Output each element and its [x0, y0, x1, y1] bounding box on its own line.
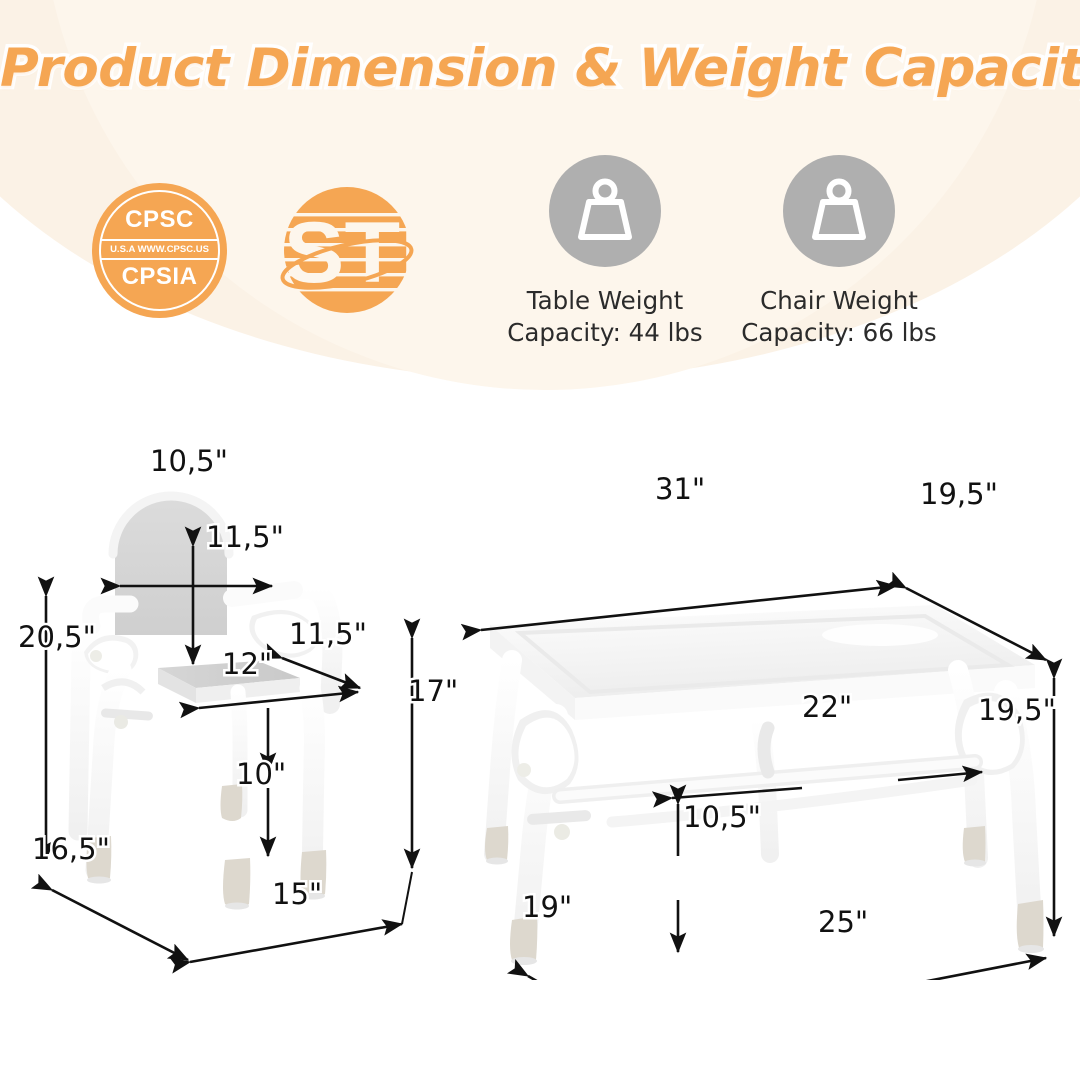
astm-seal-icon: ASTM: [277, 183, 417, 318]
product-dimension-infographic: Product Dimension & Weight Capacity CPSC…: [0, 0, 1080, 1080]
dimension-diagrams: 10,5" 11,5" 20,5" 11,5" 12" 17" 10" 16,5…: [0, 420, 1080, 980]
chair-overall-height-label: 20,5": [18, 620, 96, 654]
table-base-width-label: 25": [818, 905, 868, 939]
page-title: Product Dimension & Weight Capacity: [0, 38, 1080, 99]
certification-and-capacity-row: CPSC U.S.A WWW.CPSC.US CPSIA ASTM: [0, 150, 1080, 380]
cpsc-seal-middle-text: U.S.A WWW.CPSC.US: [101, 239, 218, 260]
chair-seat-depth-label: 11,5": [289, 617, 367, 651]
chair-base-width-label: 15": [272, 877, 322, 911]
table-weight-capacity-label: Table Weight Capacity: 44 lbs: [480, 285, 730, 350]
cpsc-seal-bottom-text: CPSIA: [92, 263, 227, 291]
table-top-width-label: 31": [655, 472, 705, 506]
table-crossbar-length-label: 22": [802, 690, 852, 724]
table-base-depth-label: 19": [522, 890, 572, 924]
weight-icon: [549, 155, 661, 267]
chair-backrest-height-label: 10,5": [150, 444, 228, 478]
chair-weight-capacity-label: Chair Weight Capacity: 66 lbs: [714, 285, 964, 350]
chair-armrest-height-label: 17": [408, 674, 458, 708]
chair-backrest-width-label: 11,5": [206, 520, 284, 554]
chair-weight-capacity-item: Chair Weight Capacity: 66 lbs: [714, 150, 964, 350]
chair-seat-height-label: 10": [236, 757, 286, 791]
cpsc-cpsia-seal-icon: CPSC U.S.A WWW.CPSC.US CPSIA: [92, 183, 227, 318]
table-crossbar-height-label: 10,5": [683, 800, 761, 834]
table-overall-height-label: 19,5": [978, 693, 1056, 727]
chair-base-depth-label: 16,5": [32, 832, 110, 866]
table-top-depth-label: 19,5": [920, 477, 998, 511]
chair-illustration: [78, 494, 332, 910]
weight-icon: [783, 155, 895, 267]
table-weight-capacity-item: Table Weight Capacity: 44 lbs: [480, 150, 730, 350]
cpsc-seal-top-text: CPSC: [92, 206, 227, 234]
chair-seat-width-label: 12": [222, 647, 272, 681]
